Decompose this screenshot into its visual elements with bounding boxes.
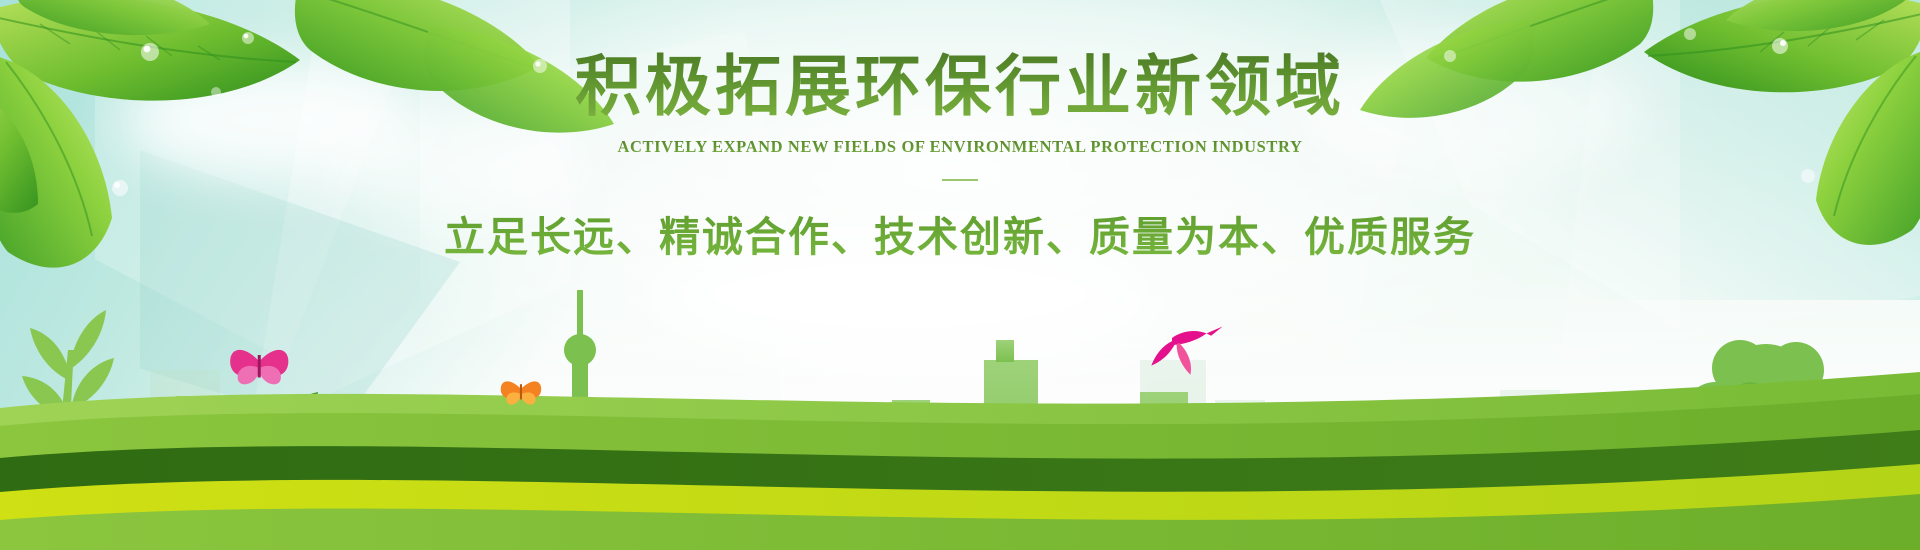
- ribbon-waves: [0, 360, 1920, 550]
- banner-text-block: 积极拓展环保行业新领域 ACTIVELY EXPAND NEW FIELDS O…: [0, 52, 1920, 263]
- divider: [942, 179, 978, 181]
- subtitle-english: ACTIVELY EXPAND NEW FIELDS OF ENVIRONMEN…: [0, 137, 1920, 157]
- tagline: 立足长远、精诚合作、技术创新、质量为本、优质服务: [0, 203, 1920, 263]
- page-title: 积极拓展环保行业新领域: [0, 52, 1920, 123]
- eco-banner: 积极拓展环保行业新领域 ACTIVELY EXPAND NEW FIELDS O…: [0, 0, 1920, 550]
